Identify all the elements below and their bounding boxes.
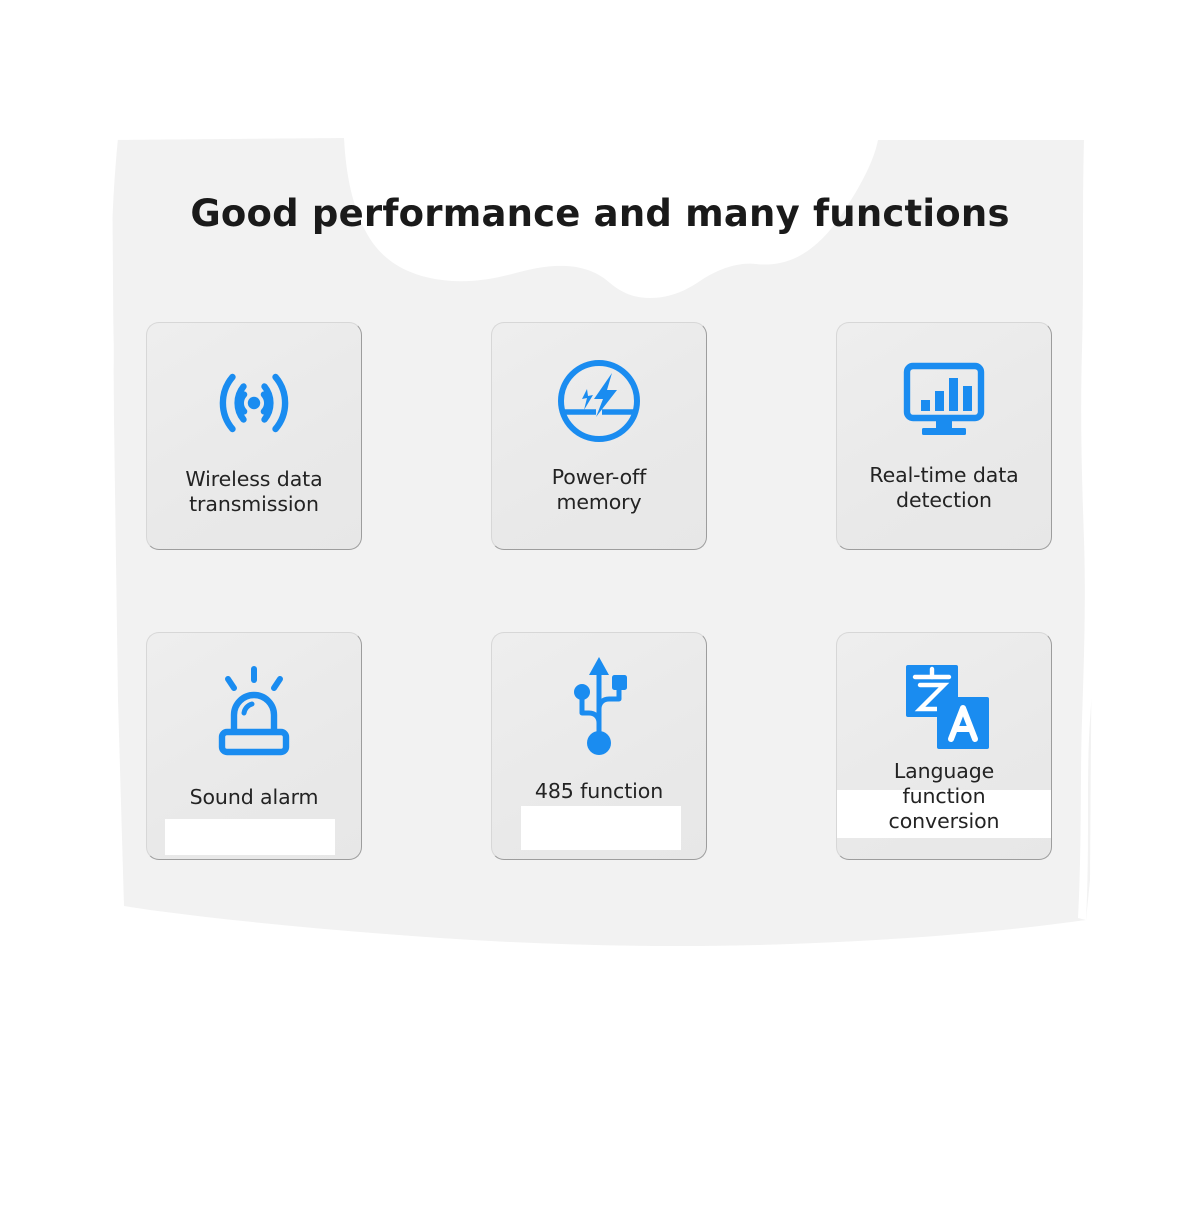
label-line: memory — [492, 490, 706, 515]
feature-card-label: 485 function — [492, 779, 706, 804]
feature-card-language-function-conversion[interactable]: Language function conversion — [836, 632, 1052, 860]
feature-card-sound-alarm[interactable]: Sound alarm — [146, 632, 362, 860]
label-line: conversion — [837, 809, 1051, 834]
feature-card-label: Wireless data transmission — [147, 467, 361, 517]
feature-card-label: Real-time data detection — [837, 463, 1051, 513]
label-line: Sound alarm — [147, 785, 361, 810]
label-line: Real-time data — [837, 463, 1051, 488]
siren-alarm-icon — [204, 663, 304, 763]
feature-card-power-off-memory[interactable]: Power-off memory — [491, 322, 707, 550]
power-off-lightning-icon — [549, 351, 649, 451]
label-line: Power-off — [492, 465, 706, 490]
feature-card-label: Power-off memory — [492, 465, 706, 515]
feature-card-grid: Wireless data transmission Power-off — [146, 322, 1056, 860]
feature-card-label: Language function conversion — [837, 759, 1051, 834]
label-line: 485 function — [492, 779, 706, 804]
feature-card-485-function[interactable]: 485 function — [491, 632, 707, 860]
label-line: Wireless data — [147, 467, 361, 492]
wireless-signal-icon — [204, 353, 304, 453]
label-line: function — [837, 784, 1051, 809]
translate-icon — [894, 657, 994, 757]
label-line: transmission — [147, 492, 361, 517]
label-highlight-band — [165, 819, 335, 855]
label-line: Language — [837, 759, 1051, 784]
page-title: Good performance and many functions — [0, 192, 1200, 235]
label-highlight-band — [521, 806, 681, 850]
usb-trident-icon — [549, 653, 649, 765]
feature-card-real-time-data-detection[interactable]: Real-time data detection — [836, 322, 1052, 550]
label-line: detection — [837, 488, 1051, 513]
feature-card-wireless-data-transmission[interactable]: Wireless data transmission — [146, 322, 362, 550]
feature-card-label: Sound alarm — [147, 785, 361, 810]
monitor-bar-chart-icon — [894, 349, 994, 449]
